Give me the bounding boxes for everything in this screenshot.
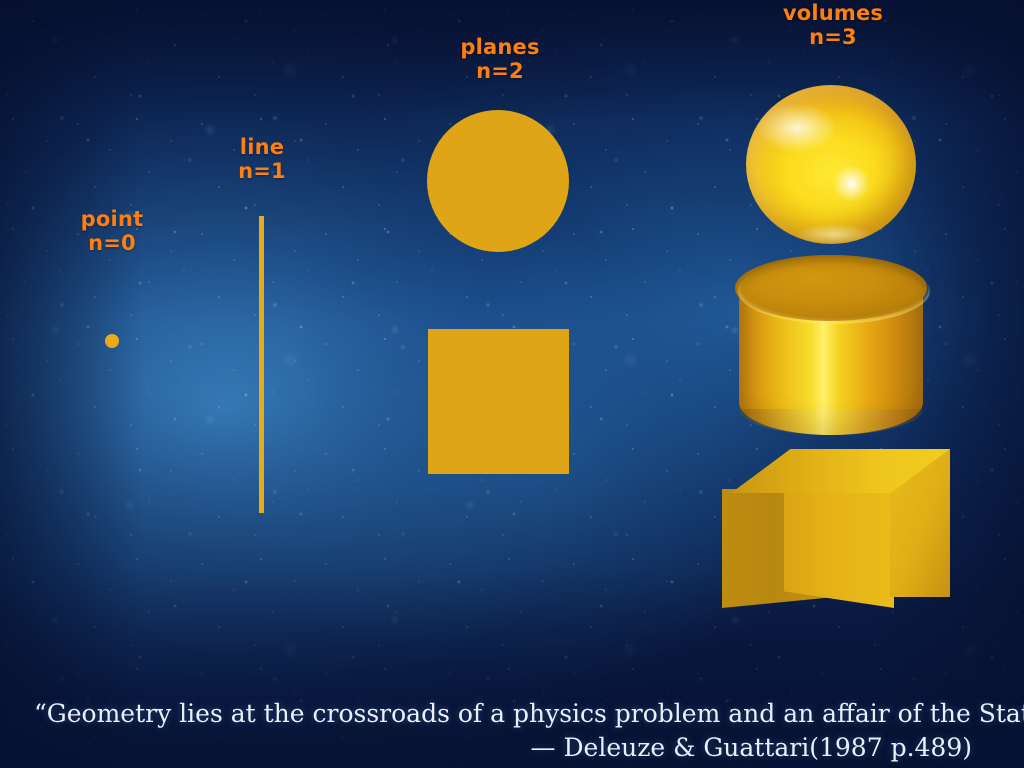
label-point-dimension: n=0 — [52, 232, 172, 256]
quotation-attribution: — Deleuze & Guattari(1987 p.489) — [34, 733, 990, 762]
cube-front-face — [784, 489, 894, 608]
quotation-block: “Geometry lies at the crossroads of a ph… — [0, 698, 1024, 763]
square-shape — [428, 329, 569, 474]
slide-canvas: point n=0 line n=1 planes n=2 volumes n=… — [0, 0, 1024, 768]
quotation-text: “Geometry lies at the crossroads of a ph… — [34, 698, 990, 730]
quote-body: Geometry lies at the crossroads of a phy… — [47, 699, 1024, 728]
label-line-name: line — [202, 136, 322, 160]
cylinder-shape — [735, 255, 927, 441]
label-line: line n=1 — [202, 136, 322, 183]
label-line-dimension: n=1 — [202, 160, 322, 184]
label-planes-name: planes — [438, 36, 562, 60]
quote-open-mark: “ — [34, 699, 47, 728]
cylinder-top-rim — [735, 255, 933, 327]
point-dot-shape — [105, 334, 119, 348]
sphere-shape — [746, 85, 916, 244]
label-point: point n=0 — [52, 208, 172, 255]
label-volumes-name: volumes — [770, 2, 896, 26]
cylinder-bottom-sheen — [739, 409, 923, 435]
sphere-rim-highlight — [746, 85, 916, 244]
label-volumes-dimension: n=3 — [770, 26, 896, 50]
label-planes: planes n=2 — [438, 36, 562, 83]
label-point-name: point — [52, 208, 172, 232]
vertical-line-shape — [259, 216, 264, 513]
label-planes-dimension: n=2 — [438, 60, 562, 84]
circle-shape — [427, 110, 569, 252]
cube-shape — [722, 449, 950, 608]
label-volumes: volumes n=3 — [770, 2, 896, 49]
